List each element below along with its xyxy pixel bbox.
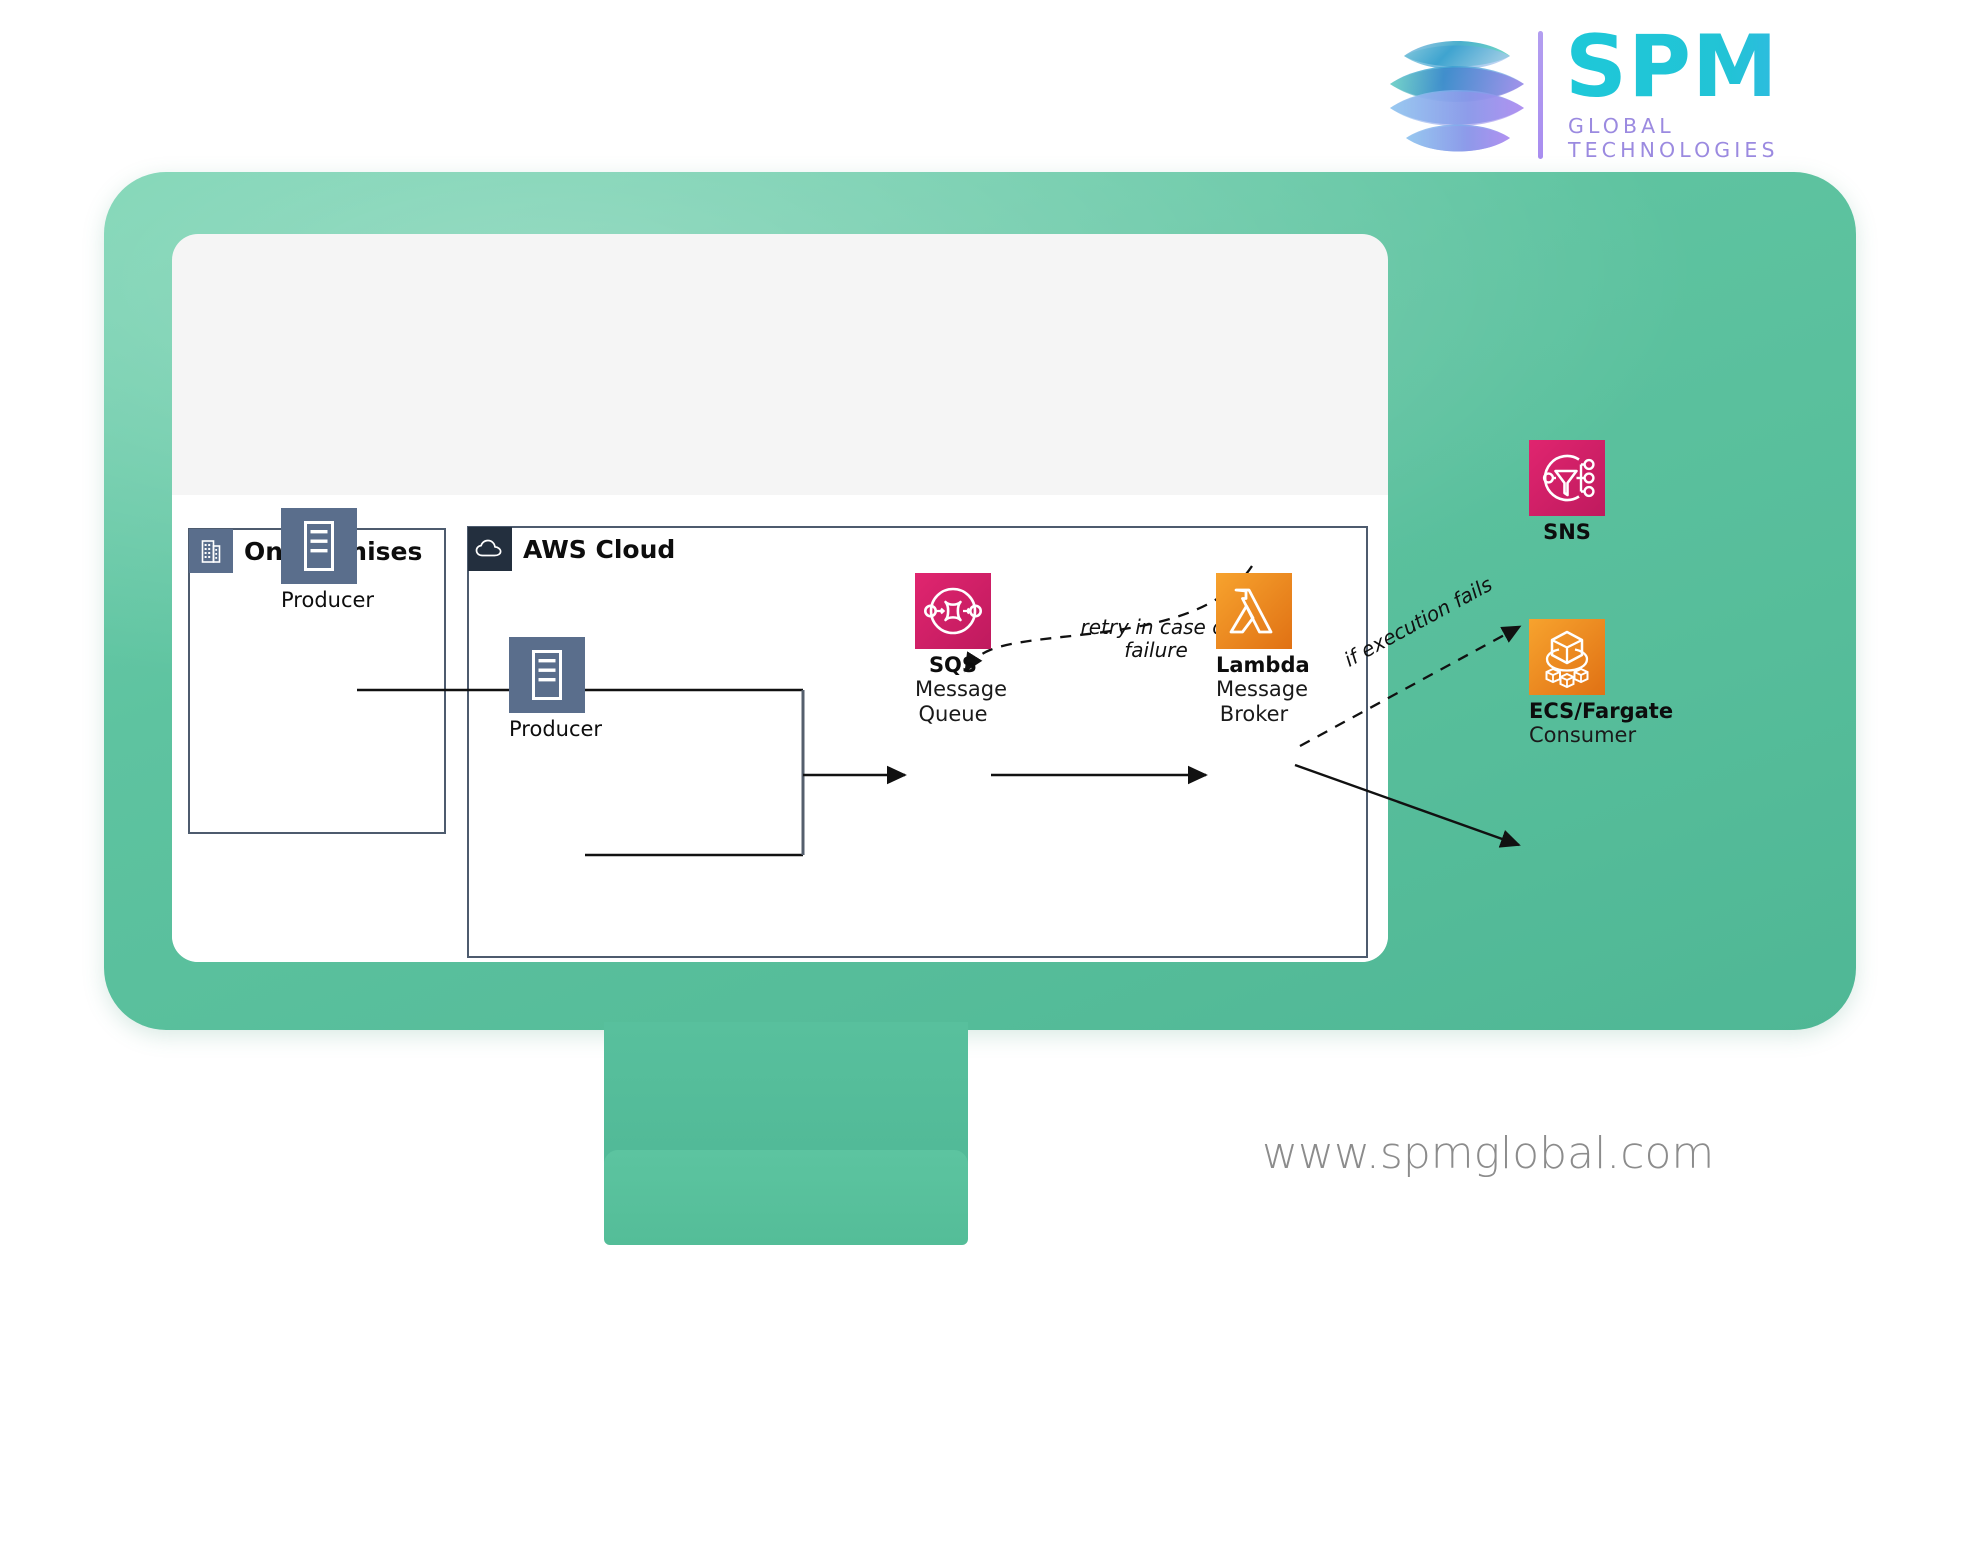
brand-logo: SPM GLOBAL TECHNOLOGIES [1382,22,1882,167]
sqs-icon [915,573,991,649]
ecs-fargate-icon [1529,619,1605,695]
node-sns[interactable]: SNS [1529,440,1605,544]
node-sublabel-lambda-1: Message [1216,677,1292,701]
node-producer-onprem[interactable]: Producer [281,508,357,612]
node-sublabel-ecs-fargate: Consumer [1529,723,1605,747]
node-lambda[interactable]: Lambda Message Broker [1216,573,1292,726]
lambda-icon [1216,573,1292,649]
group-title-aws-cloud: AWS Cloud [523,535,675,564]
cloud-icon [468,527,512,571]
building-icon [189,529,233,573]
node-label-lambda: Lambda [1216,653,1292,677]
node-label-producer-cloud: Producer [509,717,585,741]
node-ecs-fargate[interactable]: ECS/Fargate Consumer [1529,619,1605,748]
spm-woven-sphere-logo-icon [1382,22,1532,167]
watermark-url: www.spmglobal.com [1262,1128,1714,1179]
brand-tagline: GLOBAL TECHNOLOGIES [1568,114,1882,162]
sns-icon [1529,440,1605,516]
node-label-sqs: SQS [915,653,991,677]
server-icon [281,508,357,584]
brand-name: SPM [1565,27,1882,109]
brand-divider [1538,31,1543,159]
node-sublabel-sqs-1: Message [915,677,991,701]
node-label-ecs-fargate: ECS/Fargate [1529,699,1605,723]
node-label-sns: SNS [1529,520,1605,544]
node-producer-cloud[interactable]: Producer [509,637,585,741]
monitor-stand-base [604,1150,968,1245]
node-sqs[interactable]: SQS Message Queue [915,573,991,726]
page-root: SPM GLOBAL TECHNOLOGIES [0,0,1971,1543]
node-sublabel-lambda-2: Broker [1216,702,1292,726]
server-icon [509,637,585,713]
brand-wordmark: SPM GLOBAL TECHNOLOGIES [1565,27,1882,162]
node-label-producer-onprem: Producer [281,588,357,612]
node-sublabel-sqs-2: Queue [915,702,991,726]
